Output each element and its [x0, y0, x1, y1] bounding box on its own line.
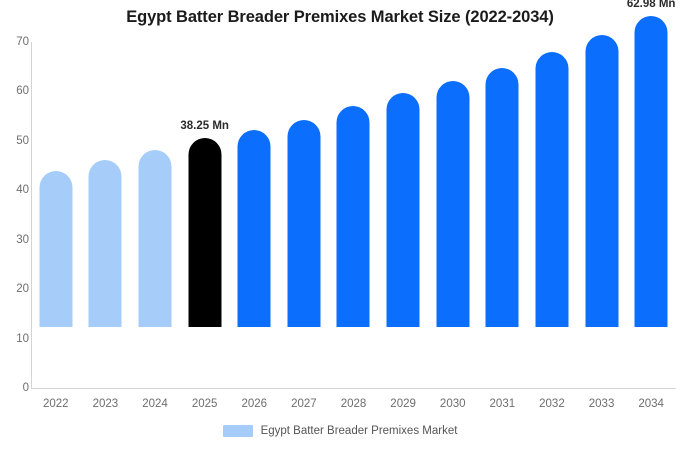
bar-chart: Egypt Batter Breader Premixes Market Siz…: [0, 0, 680, 450]
chart-legend: Egypt Batter Breader Premixes Market: [0, 425, 680, 437]
bars-layer: 38.25 Mn62.98 Mn: [31, 0, 676, 389]
x-axis-tick-label: 2031: [478, 398, 528, 410]
bar[interactable]: [238, 130, 271, 327]
bar[interactable]: [337, 106, 370, 327]
bar[interactable]: [39, 171, 72, 327]
y-axis-tick-label: 0: [0, 382, 29, 394]
x-axis-tick-label: 2022: [31, 398, 81, 410]
x-axis-tick-label: 2023: [81, 398, 131, 410]
legend-label: Egypt Batter Breader Premixes Market: [261, 425, 458, 437]
y-axis-tick-label: 40: [0, 184, 29, 196]
bar[interactable]: [139, 150, 172, 327]
y-axis-tick-label: 50: [0, 135, 29, 147]
bar[interactable]: [585, 35, 618, 327]
bar[interactable]: [387, 93, 420, 327]
x-axis-tick-label: 2024: [130, 398, 180, 410]
x-axis-tick-label: 2028: [329, 398, 379, 410]
x-axis-tick-label: 2034: [626, 398, 676, 410]
bar[interactable]: [188, 138, 221, 327]
bar[interactable]: [287, 120, 320, 327]
bar[interactable]: [89, 160, 122, 327]
bar[interactable]: [486, 68, 519, 328]
x-axis-tick-label: 2032: [527, 398, 577, 410]
x-axis-tick-label: 2026: [229, 398, 279, 410]
bar[interactable]: [635, 16, 668, 327]
bar-value-label: 62.98 Mn: [627, 0, 676, 10]
legend-swatch-icon: [223, 425, 253, 437]
y-axis-tick-label: 20: [0, 283, 29, 295]
y-axis-tick-label: 70: [0, 36, 29, 48]
x-axis-tick-label: 2030: [428, 398, 478, 410]
x-axis-tick-label: 2027: [279, 398, 329, 410]
bar[interactable]: [535, 52, 568, 327]
bar[interactable]: [436, 81, 469, 327]
y-axis-tick-label: 30: [0, 234, 29, 246]
y-axis-tick-label: 60: [0, 85, 29, 97]
y-axis-tick-label: 10: [0, 333, 29, 345]
bar-value-label: 38.25 Mn: [180, 120, 229, 132]
x-axis-tick-label: 2025: [180, 398, 230, 410]
x-axis-tick-label: 2029: [378, 398, 428, 410]
x-axis-tick-label: 2033: [577, 398, 627, 410]
